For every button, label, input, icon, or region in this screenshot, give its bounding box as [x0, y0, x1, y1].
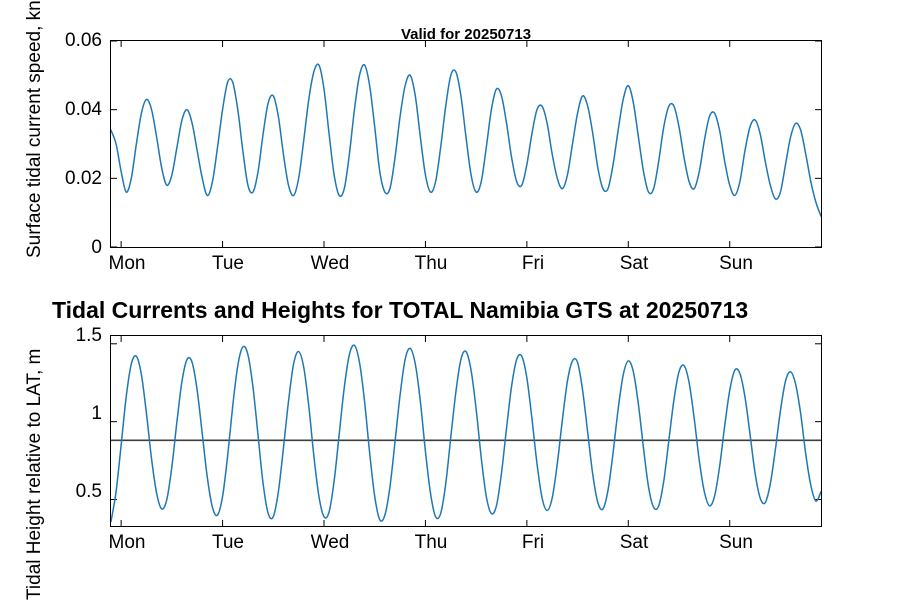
bottom-xtick-2: Wed: [288, 532, 372, 554]
page-title: Tidal Currents and Heights for TOTAL Nam…: [52, 297, 748, 324]
top-xtick-0: Mon: [85, 253, 169, 275]
bottom-ytick-1: 1: [10, 403, 102, 425]
tidal-height-plot: [110, 335, 822, 527]
top-xtick-5: Sat: [592, 253, 676, 275]
top-xtick-6: Sun: [694, 253, 778, 275]
bottom-ytick-2: 1.5: [10, 325, 102, 347]
tidal-current-speed-line: [111, 41, 821, 247]
top-xtick-2: Wed: [288, 253, 372, 275]
top-ytick-1: 0.02: [10, 168, 102, 190]
tidal-current-speed-plot: [110, 40, 822, 248]
bottom-xtick-6: Sun: [694, 532, 778, 554]
bottom-xtick-0: Mon: [85, 532, 169, 554]
bottom-chart-ylabel: Tidal Height relative to LAT, m: [24, 349, 46, 600]
top-xtick-1: Tue: [186, 253, 270, 275]
bottom-ytick-0: 0.5: [10, 481, 102, 503]
top-xtick-4: Fri: [491, 253, 575, 275]
bottom-xtick-4: Fri: [491, 532, 575, 554]
top-ytick-2: 0.04: [10, 99, 102, 121]
tidal-height-line: [111, 336, 821, 526]
bottom-xtick-1: Tue: [186, 532, 270, 554]
figure-root: Valid for 20250713 Surface tidal current…: [0, 0, 900, 600]
top-ytick-3: 0.06: [10, 30, 102, 52]
bottom-xtick-5: Sat: [592, 532, 676, 554]
top-xtick-3: Thu: [389, 253, 473, 275]
bottom-xtick-3: Thu: [389, 532, 473, 554]
